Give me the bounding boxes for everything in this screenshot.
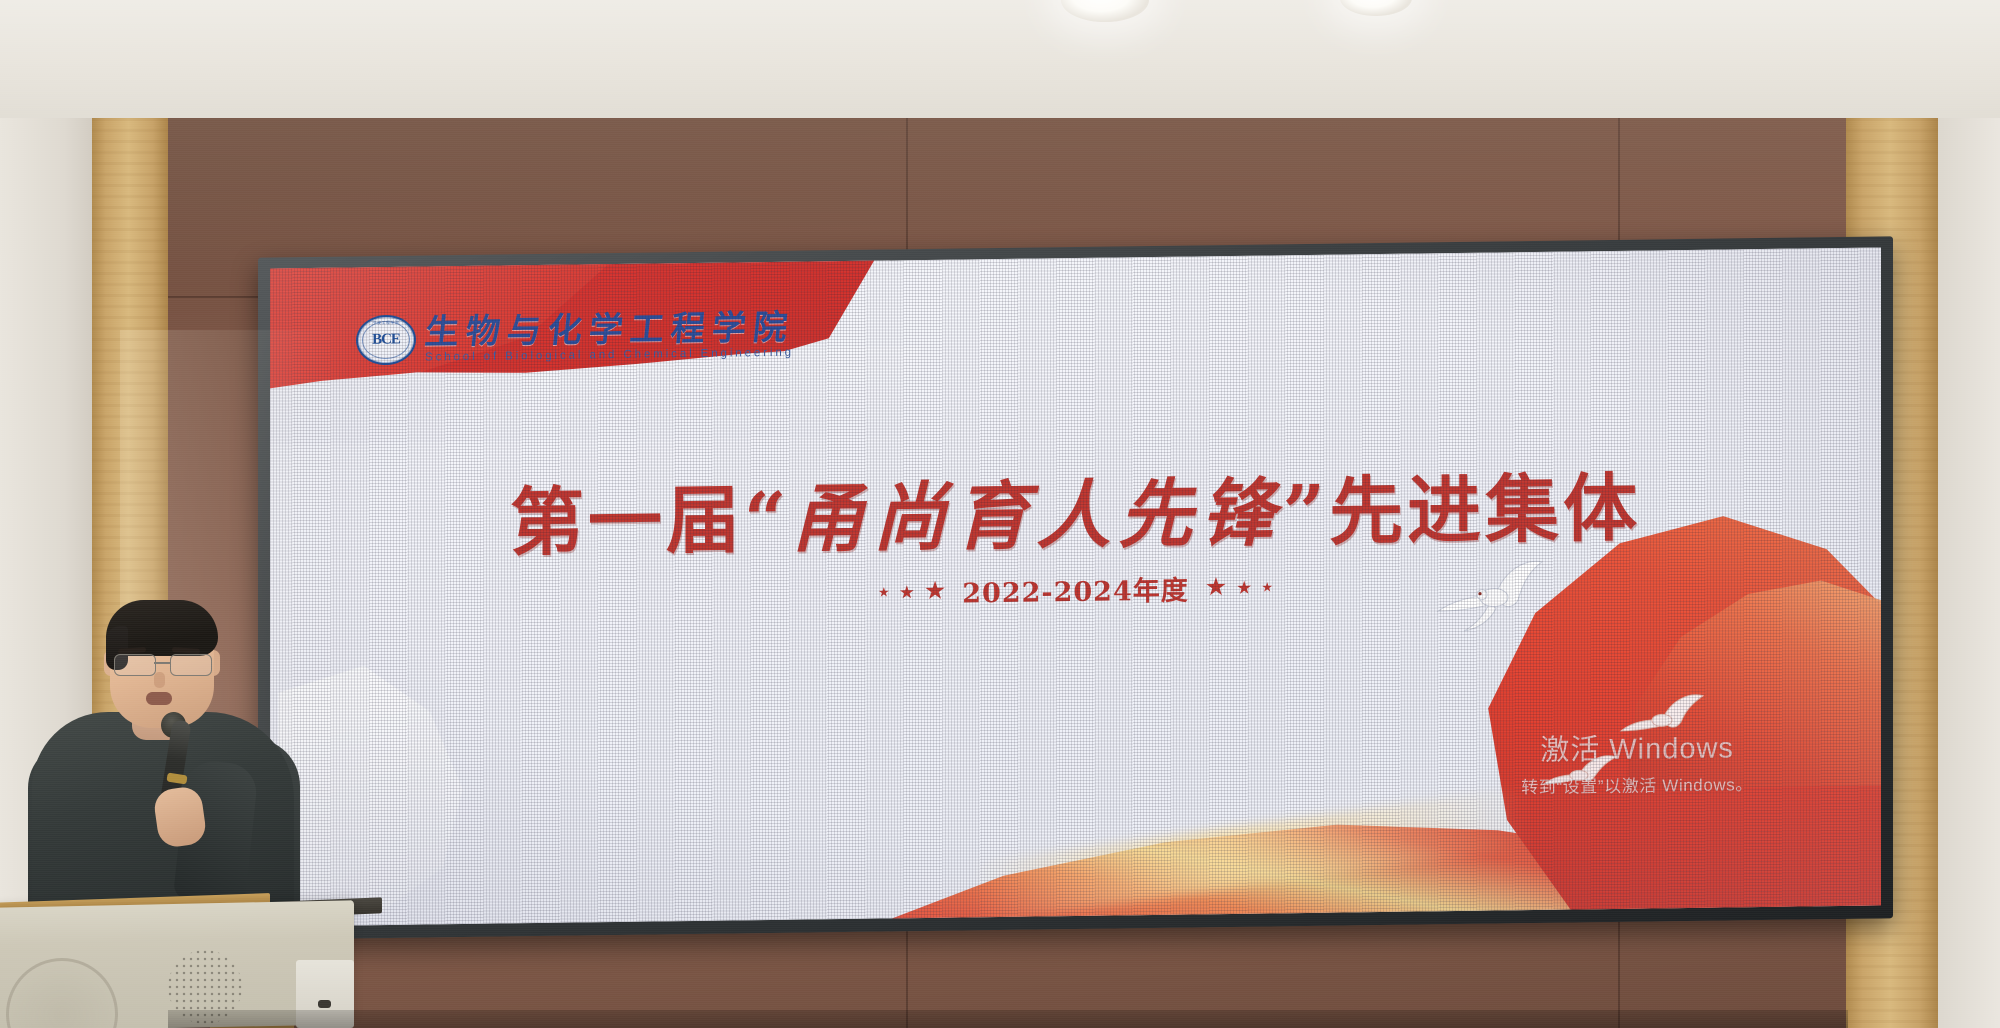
logo-text-block: 生物与化学工程学院 School of Biological and Chemi…: [425, 310, 794, 363]
auditorium-photo: 宁波工程学院 BCE 生物与化学工程学院 School of Biologica…: [0, 0, 2000, 1028]
glasses-lens: [170, 654, 212, 676]
star-icon: ★: [899, 583, 915, 601]
school-name-cn: 生物与化学工程学院: [423, 310, 796, 349]
school-logo-lockup: 宁波工程学院 BCE 生物与化学工程学院 School of Biologica…: [356, 310, 794, 366]
star-icon: ★: [1261, 580, 1273, 593]
star-icon: ★: [1205, 575, 1227, 600]
title-open-quote: “: [744, 477, 791, 564]
dove-icon: [1538, 749, 1624, 794]
star-icon: ★: [878, 585, 890, 598]
dove-icon: [1430, 550, 1560, 636]
seal-monogram: BCE: [358, 331, 414, 349]
ceiling: [0, 0, 2000, 128]
title-prefix: 第一届: [510, 477, 744, 566]
title-quoted: 甬尚育人先锋: [791, 470, 1283, 562]
dove-icon: [1615, 688, 1711, 745]
presenter: [28, 592, 298, 922]
title-suffix: 先进集体: [1329, 466, 1641, 556]
glasses-bridge: [154, 662, 170, 664]
presenter-nose: [154, 672, 165, 688]
seal-arc-text: 宁波工程学院: [358, 320, 414, 327]
slide-subtitle-text: 2022-2024年度: [962, 569, 1189, 611]
lectern-box-port: [318, 1000, 331, 1008]
floor-shadow: [168, 1010, 1848, 1028]
presenter-mouth: [146, 692, 172, 705]
led-screen-frame: 宁波工程学院 BCE 生物与化学工程学院 School of Biologica…: [258, 236, 1893, 939]
stars-left: ★ ★ ★: [878, 579, 946, 605]
school-seal-icon: 宁波工程学院 BCE: [356, 315, 416, 366]
stars-right: ★ ★ ★: [1205, 574, 1273, 600]
title-close-quote: ”: [1283, 470, 1330, 557]
glasses-lens: [114, 654, 156, 676]
glasses-icon: [112, 654, 212, 674]
led-screen-display[interactable]: 宁波工程学院 BCE 生物与化学工程学院 School of Biologica…: [270, 247, 1881, 926]
star-icon: ★: [1236, 578, 1252, 596]
star-icon: ★: [924, 579, 946, 604]
side-wall-right: [1938, 118, 2000, 1028]
